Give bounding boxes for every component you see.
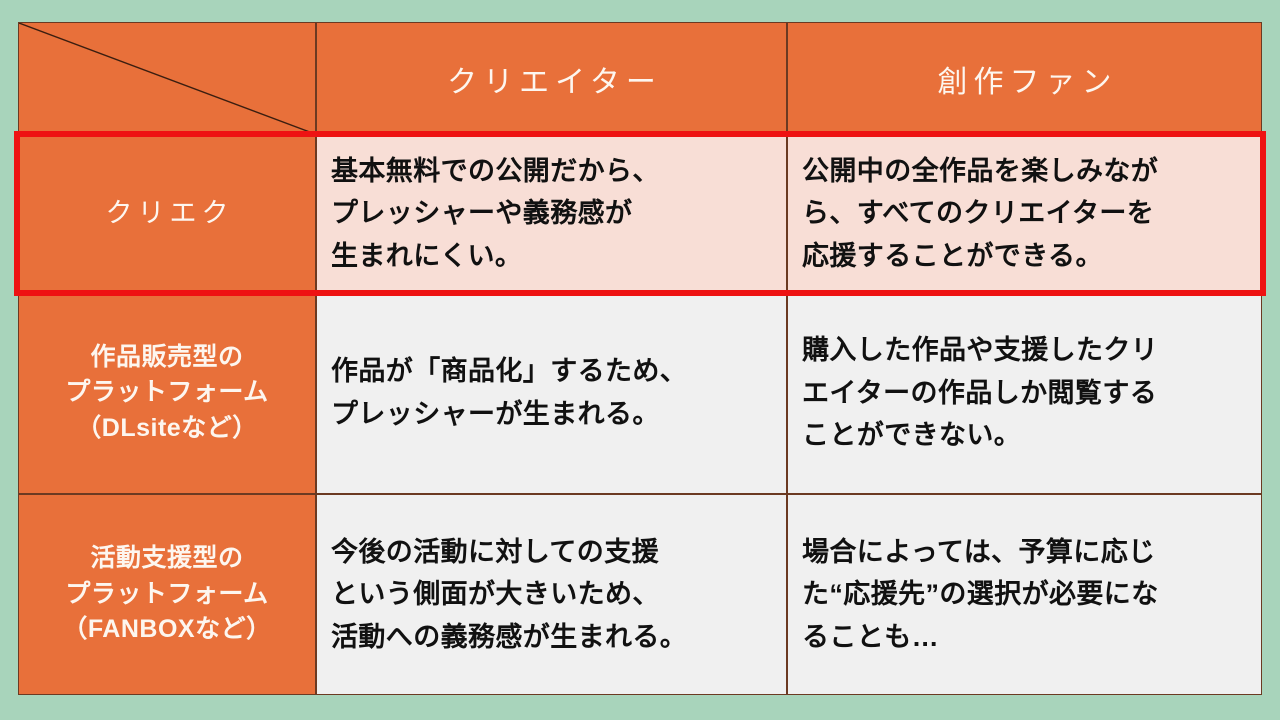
cell-text: 公開中の全作品を楽しみなが ら、すべてのクリエイターを 応援することができる。 <box>802 150 1247 278</box>
cell-text: 場合によっては、予算に応じ た“応援先”の選択が必要にな ることも… <box>802 531 1247 659</box>
cell-fanbox-creator: 今後の活動に対しての支援 という側面が大きいため、 活動への義務感が生まれる。 <box>316 494 787 695</box>
cell-text-line: ることも… <box>802 616 1247 659</box>
cell-text-line: 場合によっては、予算に応じ <box>802 531 1247 574</box>
cell-text-line: プレッシャーや義務感が <box>331 192 772 235</box>
table-corner-cell <box>18 22 316 135</box>
row-label-line: 作品販売型の <box>90 340 243 376</box>
cell-text-line: プレッシャーが生まれる。 <box>331 393 772 436</box>
cell-dlsite-fan: 購入した作品や支援したクリ エイターの作品しか閲覧する ことができない。 <box>787 292 1262 494</box>
cell-text-line: 応援することができる。 <box>802 235 1247 278</box>
cell-text-line: ら、すべてのクリエイターを <box>802 192 1247 235</box>
column-header-creator-label: クリエイター <box>441 57 662 101</box>
cell-text: 購入した作品や支援したクリ エイターの作品しか閲覧する ことができない。 <box>802 329 1247 457</box>
comparison-table: クリエイター 創作ファン クリエク 基本無料での公開だから、 プレッシャーや義務… <box>18 22 1262 695</box>
row-label-dlsite: 作品販売型の プラットフォーム （DLsiteなど） <box>18 292 316 494</box>
row-label-line: クリエク <box>101 194 234 232</box>
row-label-line: プラットフォーム <box>65 577 268 613</box>
cell-text-line: という側面が大きいため、 <box>331 573 772 616</box>
cell-kurieku-creator: 基本無料での公開だから、 プレッシャーや義務感が 生まれにくい。 <box>316 135 787 292</box>
cell-text: 今後の活動に対しての支援 という側面が大きいため、 活動への義務感が生まれる。 <box>331 531 772 659</box>
cell-text-line: 作品が「商品化」するため、 <box>331 350 772 393</box>
column-header-fan: 創作ファン <box>787 22 1262 135</box>
row-label-fanbox: 活動支援型の プラットフォーム （FANBOXなど） <box>18 494 316 695</box>
cell-text-line: 今後の活動に対しての支援 <box>331 531 772 574</box>
diagonal-divider-icon <box>19 23 315 134</box>
cell-text-line: ことができない。 <box>802 414 1247 457</box>
cell-text-line: 公開中の全作品を楽しみなが <box>802 150 1247 193</box>
column-header-fan-label: 創作ファン <box>932 57 1118 101</box>
slide-canvas: クリエイター 創作ファン クリエク 基本無料での公開だから、 プレッシャーや義務… <box>0 0 1280 720</box>
row-label-line: （FANBOXなど） <box>62 612 271 648</box>
cell-fanbox-fan: 場合によっては、予算に応じ た“応援先”の選択が必要にな ることも… <box>787 494 1262 695</box>
cell-text-line: た“応援先”の選択が必要にな <box>802 573 1247 616</box>
cell-text-line: 生まれにくい。 <box>331 235 772 278</box>
cell-text-line: 活動への義務感が生まれる。 <box>331 616 772 659</box>
row-label-kurieku: クリエク <box>18 135 316 292</box>
row-label-line: （DLsiteなど） <box>76 411 257 447</box>
cell-dlsite-creator: 作品が「商品化」するため、 プレッシャーが生まれる。 <box>316 292 787 494</box>
cell-text-line: 基本無料での公開だから、 <box>331 150 772 193</box>
cell-text: 基本無料での公開だから、 プレッシャーや義務感が 生まれにくい。 <box>331 150 772 278</box>
column-header-creator: クリエイター <box>316 22 787 135</box>
cell-text-line: 購入した作品や支援したクリ <box>802 329 1247 372</box>
row-label-line: プラットフォーム <box>65 375 268 411</box>
cell-text-line: エイターの作品しか閲覧する <box>802 372 1247 415</box>
cell-text: 作品が「商品化」するため、 プレッシャーが生まれる。 <box>331 350 772 435</box>
row-label-line: 活動支援型の <box>90 541 243 577</box>
cell-kurieku-fan: 公開中の全作品を楽しみなが ら、すべてのクリエイターを 応援することができる。 <box>787 135 1262 292</box>
